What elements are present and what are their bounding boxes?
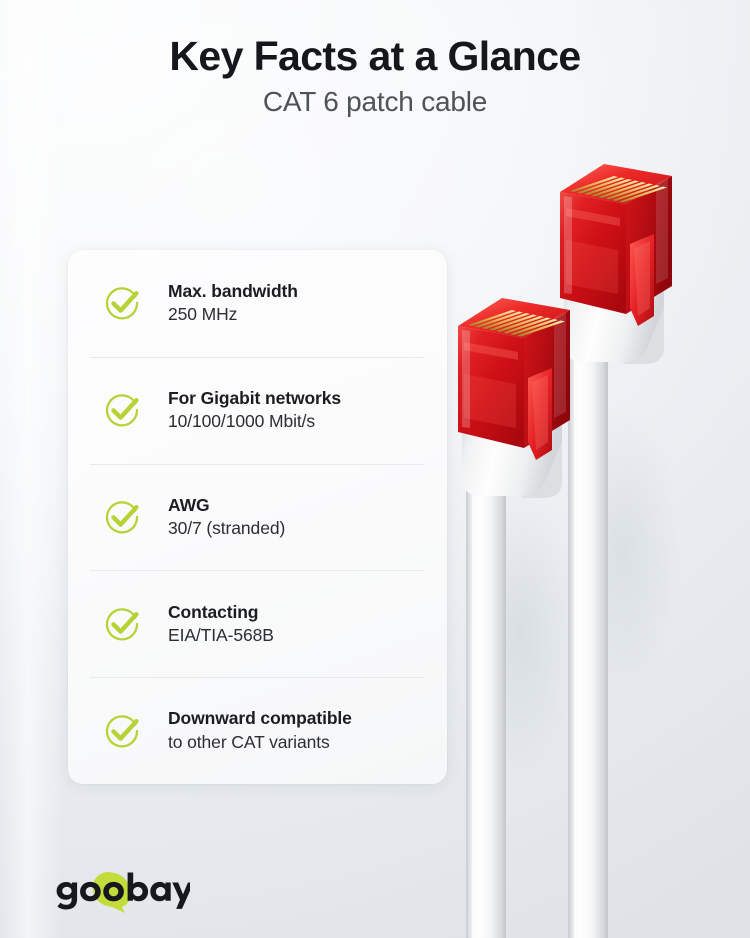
page-title: Key Facts at a Glance bbox=[0, 34, 750, 79]
list-item: For Gigabit networks 10/100/1000 Mbit/s bbox=[68, 357, 447, 464]
check-circle-icon bbox=[102, 604, 142, 644]
list-item: Contacting EIA/TIA-568B bbox=[68, 570, 447, 677]
goobay-logo: R bbox=[50, 869, 190, 913]
check-circle-icon bbox=[102, 711, 142, 751]
page-subtitle: CAT 6 patch cable bbox=[0, 85, 750, 119]
check-circle-icon bbox=[102, 283, 142, 323]
fact-title: Contacting bbox=[168, 601, 274, 624]
fact-text: Max. bandwidth 250 MHz bbox=[168, 280, 298, 326]
fact-value: 250 MHz bbox=[168, 303, 298, 326]
fact-value: 10/100/1000 Mbit/s bbox=[168, 410, 341, 433]
header: Key Facts at a Glance CAT 6 patch cable bbox=[0, 34, 750, 119]
infographic-page: Key Facts at a Glance CAT 6 patch cable … bbox=[0, 0, 750, 938]
fact-text: Downward compatible to other CAT variant… bbox=[168, 707, 352, 753]
fact-text: Contacting EIA/TIA-568B bbox=[168, 601, 274, 647]
fact-title: For Gigabit networks bbox=[168, 387, 341, 410]
fact-title: Downward compatible bbox=[168, 707, 352, 730]
list-item: Downward compatible to other CAT variant… bbox=[68, 677, 447, 784]
cable-left bbox=[466, 430, 506, 938]
fact-text: For Gigabit networks 10/100/1000 Mbit/s bbox=[168, 387, 341, 433]
check-circle-icon bbox=[102, 497, 142, 537]
cable-right bbox=[568, 305, 608, 938]
rj45-connector-upper bbox=[560, 164, 672, 364]
cat6-patch-cable-photo bbox=[410, 130, 750, 938]
fact-title: AWG bbox=[168, 494, 285, 517]
fact-value: to other CAT variants bbox=[168, 731, 352, 754]
key-facts-list: Max. bandwidth 250 MHz For Gigabit netwo… bbox=[68, 250, 447, 784]
key-facts-card: Max. bandwidth 250 MHz For Gigabit netwo… bbox=[68, 250, 447, 784]
fact-text: AWG 30/7 (stranded) bbox=[168, 494, 285, 540]
fact-value: EIA/TIA-568B bbox=[168, 624, 274, 647]
list-item: AWG 30/7 (stranded) bbox=[68, 464, 447, 571]
fact-value: 30/7 (stranded) bbox=[168, 517, 285, 540]
rj45-connector-lower bbox=[458, 298, 570, 498]
background-light-band bbox=[0, 0, 62, 938]
list-item: Max. bandwidth 250 MHz bbox=[68, 250, 447, 357]
fact-title: Max. bandwidth bbox=[168, 280, 298, 303]
check-circle-icon bbox=[102, 390, 142, 430]
